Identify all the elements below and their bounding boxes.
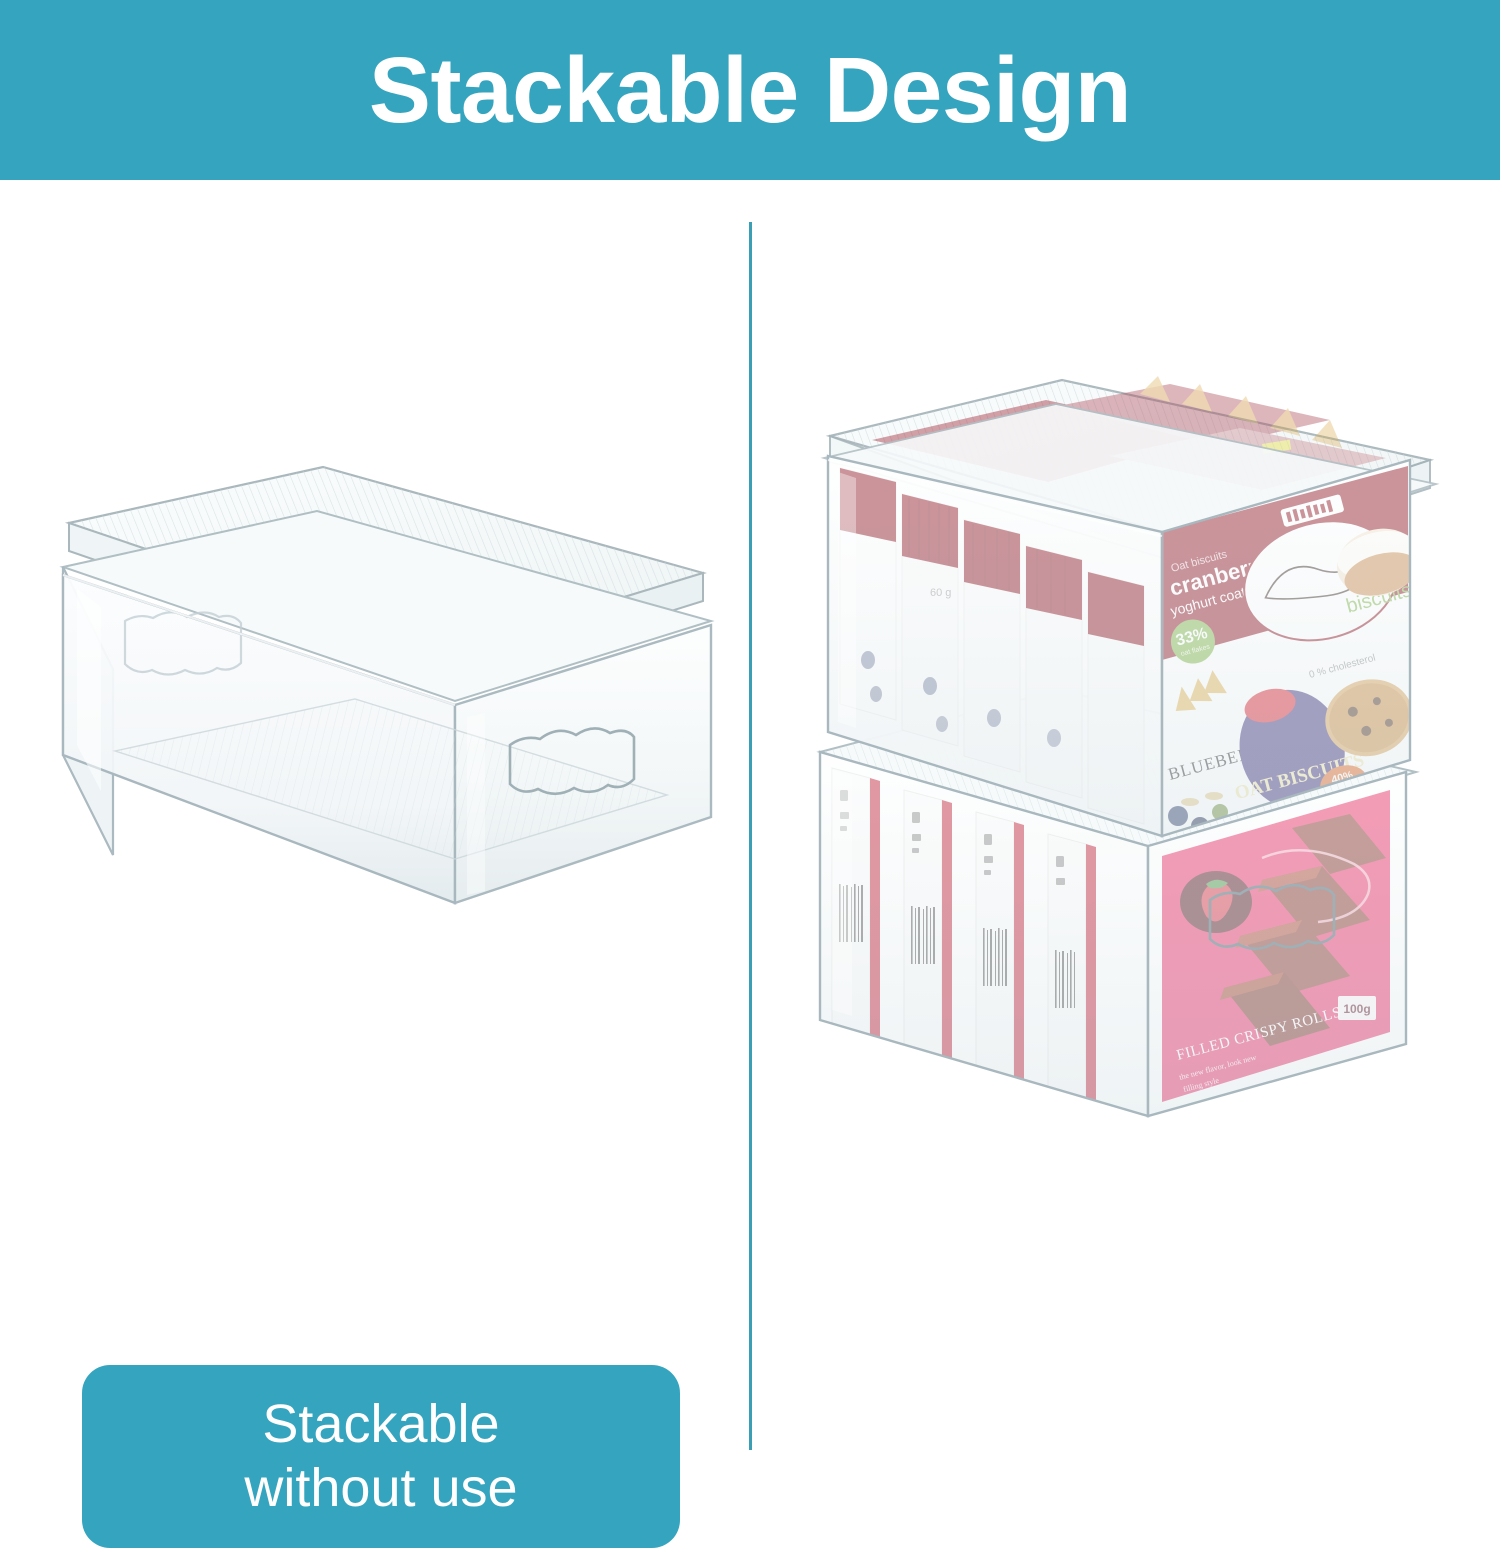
product-image-single-bin [55,455,715,1015]
product-image-stacked-bins: 100g FILLED CRISPY ROLLS the new flavor,… [810,360,1490,1150]
header-banner: Stackable Design [0,0,1500,180]
caption-text-left: Stackable without use [226,1393,535,1520]
caption-pill-left: Stackable without use [82,1365,680,1548]
panel-right: 100g FILLED CRISPY ROLLS the new flavor,… [750,180,1500,1463]
page-title: Stackable Design [369,44,1131,137]
panel-left: Stackable without use [0,180,750,1463]
content-stage: Stackable without use [0,180,1500,1463]
